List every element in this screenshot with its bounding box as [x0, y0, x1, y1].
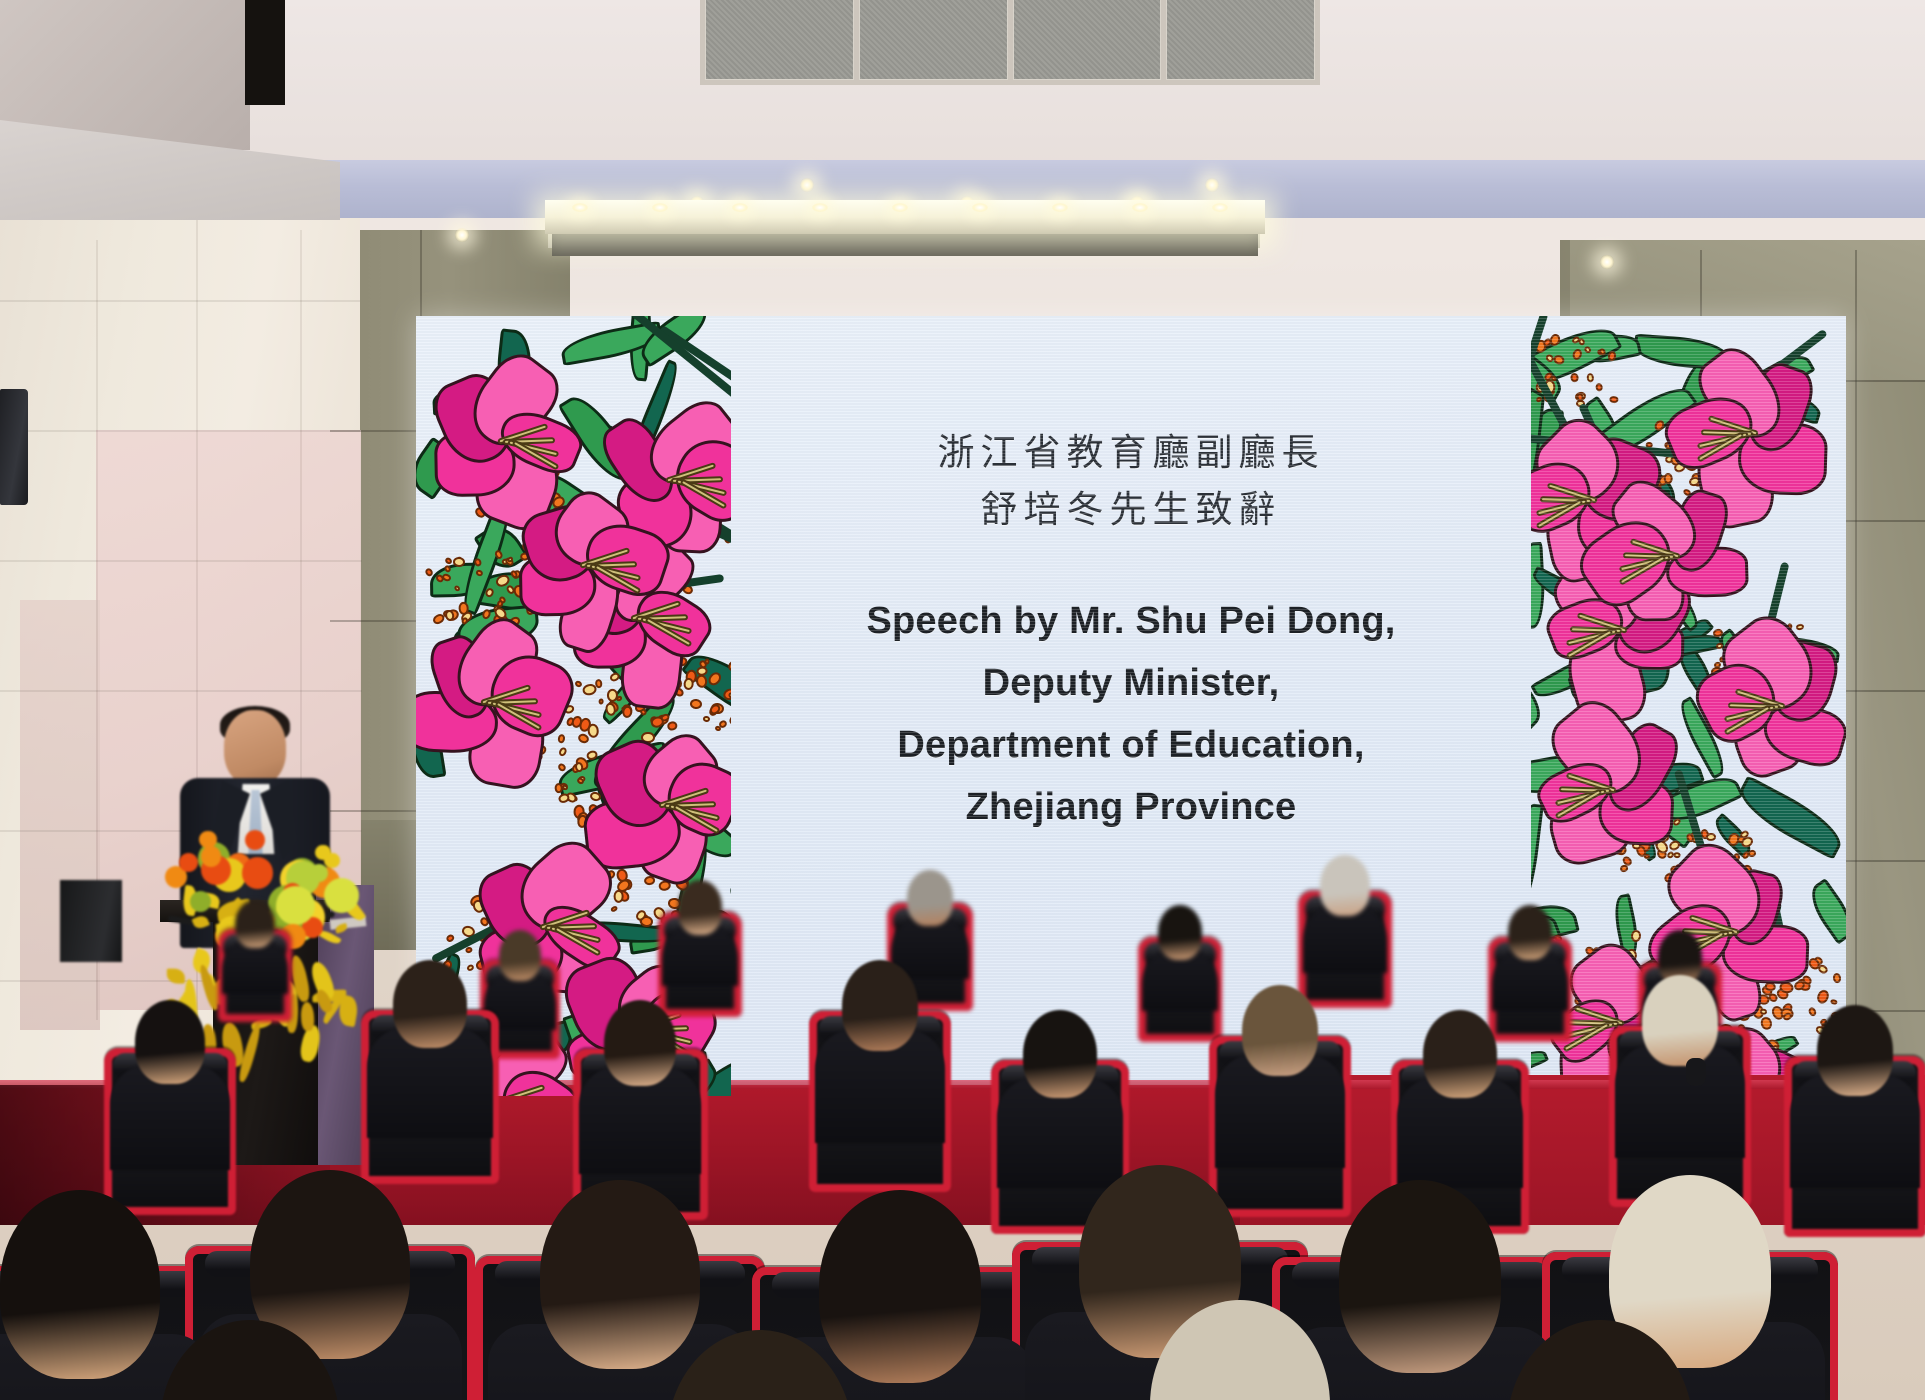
slide-english-line-3: Department of Education, — [866, 715, 1395, 777]
audience-head — [1158, 905, 1203, 960]
bouquet-bloom-28 — [276, 886, 315, 925]
osmanthus-floret-7 — [1570, 373, 1579, 383]
audience-head — [1339, 1180, 1502, 1373]
bouquet-yellow-38 — [334, 922, 348, 933]
osmanthus-floret-11 — [1795, 623, 1804, 631]
osmanthus-floret-15 — [1595, 383, 1603, 392]
osmanthus-floret-2 — [1607, 350, 1617, 361]
osmanthus-floret-15 — [466, 963, 475, 971]
slide-english-line-2: Deputy Minister, — [866, 653, 1395, 715]
bouquet-yellow-16 — [191, 914, 209, 930]
osmanthus-floret-25 — [424, 567, 435, 578]
osmanthus-floret-0 — [481, 608, 493, 621]
osmanthus-floret-2 — [453, 585, 461, 593]
slide-english-line-4: Zhejiang Province — [866, 777, 1395, 839]
ceiling-downlight-3 — [1205, 178, 1219, 192]
ceiling-downlight-2 — [800, 178, 814, 192]
led-presentation-screen[interactable]: 浙江省教育廳副廳長 舒培冬先生致辭 Speech by Mr. Shu Pei … — [416, 316, 1846, 1096]
osmanthus-floret-16 — [1706, 833, 1716, 841]
osmanthus-floret-21 — [441, 573, 452, 583]
audience-head — [1642, 975, 1718, 1066]
light-bulb-3 — [732, 203, 748, 212]
audience-head — [1508, 905, 1553, 960]
ceiling-panel — [1166, 0, 1315, 80]
translation-earpiece-icon — [1686, 1058, 1706, 1086]
bouquet-stem-17 — [300, 1002, 314, 1031]
ceiling-acoustic-panels — [700, 0, 1320, 85]
osmanthus-floret-12 — [1586, 373, 1594, 383]
light-bulb-2 — [652, 203, 668, 212]
osmanthus-floret-24 — [460, 617, 469, 626]
osmanthus-floret-9 — [465, 946, 474, 954]
osmanthus-floret-24 — [1583, 346, 1592, 355]
light-bulb-1 — [572, 203, 588, 212]
osmanthus-floret-17 — [1741, 850, 1751, 860]
audience-head — [540, 1180, 699, 1369]
audience-head — [135, 1000, 205, 1084]
osmanthus-floret-12 — [666, 721, 678, 732]
ceiling-downlight-4 — [1600, 255, 1614, 269]
osmanthus-floret-22 — [453, 557, 466, 568]
conference-hall-scene: 浙江省教育廳副廳長 舒培冬先生致辭 Speech by Mr. Shu Pei … — [0, 0, 1925, 1400]
osmanthus-floret-16 — [484, 587, 495, 599]
slide-english-block: Speech by Mr. Shu Pei Dong, Deputy Minis… — [866, 591, 1395, 839]
osmanthus-floret-6 — [1830, 998, 1838, 1005]
audience-head — [235, 900, 275, 948]
bauhinia-flower-3 — [1531, 736, 1672, 876]
osmanthus-floret-26 — [510, 569, 520, 579]
audience-head — [604, 1000, 676, 1086]
ceiling-downlight-1 — [455, 228, 469, 242]
osmanthus-floret-8 — [475, 568, 484, 576]
osmanthus-floret-8 — [1571, 348, 1584, 362]
osmanthus-floret-27 — [1631, 929, 1642, 942]
light-bulb-8 — [1132, 203, 1148, 212]
ceiling-beam-dark — [245, 0, 285, 105]
slide-english-line-1: Speech by Mr. Shu Pei Dong, — [866, 591, 1395, 653]
bouquet-bloom-33 — [179, 853, 198, 872]
bouquet-bloom-32 — [201, 846, 221, 866]
leaf-24 — [1802, 878, 1846, 945]
bauhinia-flower-8 — [524, 511, 674, 651]
light-bulb-9 — [1212, 203, 1228, 212]
audience-head — [1023, 1010, 1097, 1098]
bouquet-yellow-35 — [167, 968, 185, 983]
presenter-head — [224, 710, 286, 786]
osmanthus-floret-26 — [1832, 973, 1842, 984]
wall-speaker-left-lower — [60, 880, 122, 962]
osmanthus-floret-26 — [728, 713, 731, 727]
bauhinia-flower-2 — [425, 648, 575, 788]
bouquet-bloom-27 — [242, 857, 274, 889]
bauhinia-flower-3 — [603, 751, 731, 891]
osmanthus-floret-15 — [1808, 1006, 1818, 1017]
osmanthus-floret-18 — [1815, 989, 1831, 1006]
osmanthus-floret-3 — [702, 715, 710, 722]
light-bulb-5 — [892, 203, 908, 212]
ceiling-panel — [859, 0, 1008, 80]
audience-head — [0, 1190, 159, 1379]
osmanthus-floret-15 — [726, 657, 731, 673]
slide-chinese-line-2: 舒培冬先生致辭 — [981, 481, 1282, 538]
osmanthus-cluster-9 — [1531, 330, 1618, 412]
osmanthus-floret-5 — [1553, 353, 1567, 365]
osmanthus-floret-16 — [622, 706, 634, 720]
ceiling-panel — [705, 0, 854, 80]
bauhinia-flower-8 — [1586, 502, 1736, 642]
bauhinia-flower-2 — [1691, 652, 1841, 792]
slide-chinese-line-1: 浙江省教育廳副廳長 — [938, 424, 1325, 481]
ceiling-panel — [1013, 0, 1162, 80]
light-bulb-6 — [972, 203, 988, 212]
audience-head — [842, 960, 918, 1051]
wall-speaker-left — [0, 389, 28, 505]
bouquet-bloom-16 — [190, 891, 211, 912]
osmanthus-floret-27 — [1535, 396, 1543, 403]
audience-head — [1242, 985, 1318, 1076]
audience-head — [819, 1190, 982, 1383]
wall-pillar-left — [20, 600, 100, 1030]
osmanthus-floret-23 — [1577, 338, 1585, 347]
audience-head — [1423, 1010, 1497, 1098]
osmanthus-floret-11 — [474, 557, 483, 567]
osmanthus-floret-21 — [445, 933, 456, 943]
audience-head — [499, 930, 541, 981]
audience-head — [1817, 1005, 1893, 1096]
light-bulb-4 — [812, 203, 828, 212]
audience-head — [393, 960, 467, 1048]
audience-head — [907, 870, 953, 926]
audience-head — [1320, 855, 1370, 916]
light-bulb-7 — [1052, 203, 1068, 212]
audience-head — [678, 880, 723, 935]
osmanthus-floret-22 — [557, 792, 570, 804]
bouquet-bloom-23 — [315, 845, 331, 861]
bouquet-bloom-18 — [245, 830, 265, 850]
screen-valance-recess — [552, 232, 1258, 256]
osmanthus-floret-19 — [1609, 396, 1618, 404]
